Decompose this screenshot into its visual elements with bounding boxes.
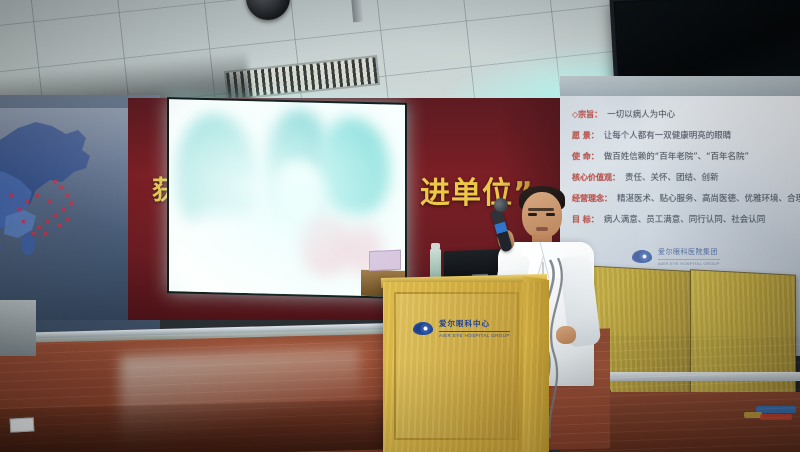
board-row: 目 标： 病人满意、员工满意、同行认同、社会认同 [572, 213, 796, 225]
presenter-mouth [536, 227, 548, 231]
photo-scene: 获 进单位” ◇宗旨： 一切以病人为中心 [0, 0, 800, 452]
board-row-value: 让每个人都有一双健康明亮的眼睛 [604, 129, 732, 141]
projected-image [169, 99, 405, 297]
board-row-value: 责任、关怀、团结、创新 [625, 171, 719, 183]
bottle-cap [431, 243, 440, 249]
foreground-shadow [0, 399, 410, 452]
board-row-key: ◇宗旨： [572, 109, 602, 120]
eye-icon [632, 250, 652, 263]
projection-surface [169, 99, 405, 297]
board-logo-cn: 爱尔眼科医院集团 [658, 247, 720, 257]
eye-icon [413, 322, 433, 335]
presenter-brow [528, 208, 554, 211]
left-pillar [0, 300, 36, 356]
board-row: 愿 景： 让每个人都有一双健康明亮的眼睛 [572, 129, 796, 141]
podium-hospital-logo: 爱尔眼科中心 AIER EYE HOSPITAL GROUP [413, 318, 510, 338]
board-row-value: 一切以病人为中心 [607, 108, 675, 120]
board-row-key: 核心价值观： [572, 172, 620, 183]
china-map-banner [0, 108, 144, 320]
board-text-block: ◇宗旨： 一切以病人为中心 愿 景： 让每个人都有一双健康明亮的眼睛 使 命： … [572, 108, 796, 234]
podium-logo-en: AIER EYE HOSPITAL GROUP [439, 331, 510, 338]
presenter-eye-left [528, 213, 537, 216]
board-row-key: 愿 景： [572, 130, 599, 141]
projection-screen [167, 97, 407, 299]
board-row-value: 精湛医术、贴心服务、高尚医德、优雅环境、合理 [617, 192, 800, 204]
board-row: 核心价值观： 责任、关怀、团结、创新 [572, 171, 796, 183]
board-row: ◇宗旨： 一切以病人为中心 [572, 108, 796, 120]
board-row: 使 命： 做百姓信赖的“百年老院”、“百年名院” [572, 150, 796, 162]
projector-mount [351, 0, 363, 22]
presenter-eye-right [546, 213, 555, 216]
board-hospital-logo: 爱尔眼科医院集团 AIER EYE HOSPITAL GROUP [632, 247, 720, 266]
podium-logo-cn: 爱尔眼科中心 [439, 318, 510, 329]
floor-sign [10, 417, 35, 432]
podium-front-panel [394, 292, 519, 440]
board-row: 经营理念： 精湛医术、贴心服务、高尚医德、优雅环境、合理 [572, 192, 796, 204]
podium: 爱尔眼科中心 AIER EYE HOSPITAL GROUP [383, 282, 543, 452]
board-row-key: 使 命： [572, 151, 599, 162]
water-bottle [430, 248, 441, 280]
board-row-value: 做百姓信赖的“百年老院”、“百年名院” [604, 150, 749, 162]
board-row-value: 病人满意、员工满意、同行认同、社会认同 [604, 213, 766, 225]
board-logo-en: AIER EYE HOSPITAL GROUP [658, 259, 720, 266]
projected-card [369, 250, 401, 271]
banner-glare [0, 108, 144, 320]
presenter-hand-right [556, 326, 576, 344]
podium-side-panel [523, 276, 549, 452]
